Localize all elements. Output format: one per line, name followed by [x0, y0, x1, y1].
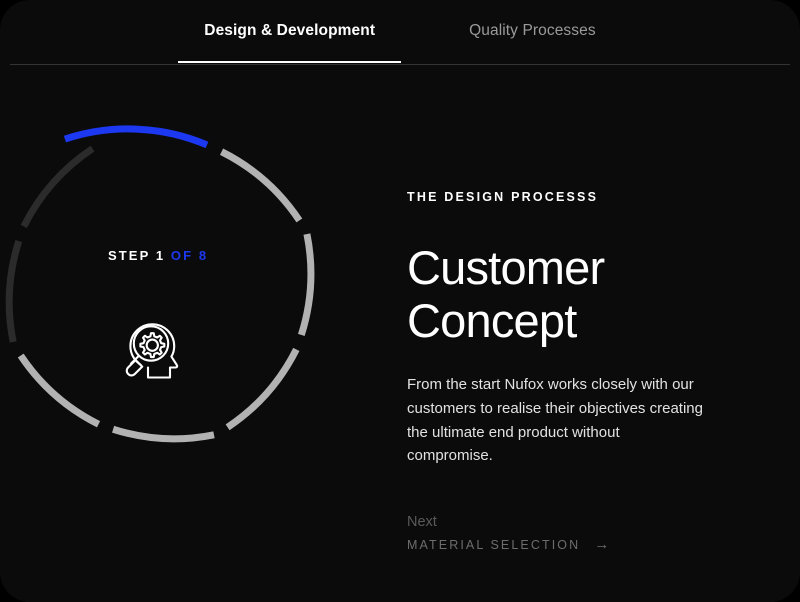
ring-segment-7-empty — [9, 241, 19, 342]
section-eyebrow: THE DESIGN PROCESSS — [407, 190, 737, 204]
body-paragraph: From the start Nufox works closely with … — [407, 373, 707, 468]
step-counter-current: STEP 1 — [108, 248, 165, 263]
next-step-link[interactable]: Next MATERIAL SELECTION → — [407, 514, 737, 552]
step-progress-ring — [0, 118, 390, 558]
arrow-right-icon: → — [594, 537, 611, 552]
ring-segment-8-empty — [24, 149, 93, 227]
next-step-target-label: MATERIAL SELECTION — [407, 538, 580, 552]
step-counter-total: OF 8 — [171, 248, 208, 263]
ring-segment-5 — [113, 429, 214, 439]
tab-quality-processes[interactable]: Quality Processes — [443, 0, 622, 42]
page-title-line-1: Customer — [407, 241, 604, 294]
tab-list: Design & Development Quality Processes — [0, 0, 800, 64]
content-column: THE DESIGN PROCESSS Customer Concept Fro… — [407, 190, 737, 552]
screen: Design & Development Quality Processes — [0, 0, 800, 602]
next-step-caption: Next — [407, 514, 737, 530]
ring-segment-1-active — [65, 129, 207, 145]
tab-active-underline — [178, 61, 401, 63]
progress-ring-svg — [0, 118, 390, 558]
page-title: Customer Concept — [407, 242, 737, 347]
next-step-target[interactable]: MATERIAL SELECTION → — [407, 537, 737, 552]
ring-segment-4 — [228, 349, 297, 427]
device-frame: Design & Development Quality Processes — [0, 0, 800, 602]
tab-bar-divider — [10, 64, 790, 65]
page-title-line-2: Concept — [407, 295, 737, 348]
ring-segment-2 — [222, 152, 300, 221]
tab-label: Quality Processes — [469, 22, 596, 39]
head-gear-magnifier-icon — [118, 312, 192, 386]
step-counter: STEP 1 OF 8 — [108, 248, 208, 263]
tab-bar: Design & Development Quality Processes — [0, 0, 800, 65]
tab-design-and-development[interactable]: Design & Development — [178, 0, 401, 42]
ring-segment-6 — [21, 356, 99, 425]
tab-label: Design & Development — [204, 22, 375, 39]
ring-segment-3 — [301, 234, 311, 335]
